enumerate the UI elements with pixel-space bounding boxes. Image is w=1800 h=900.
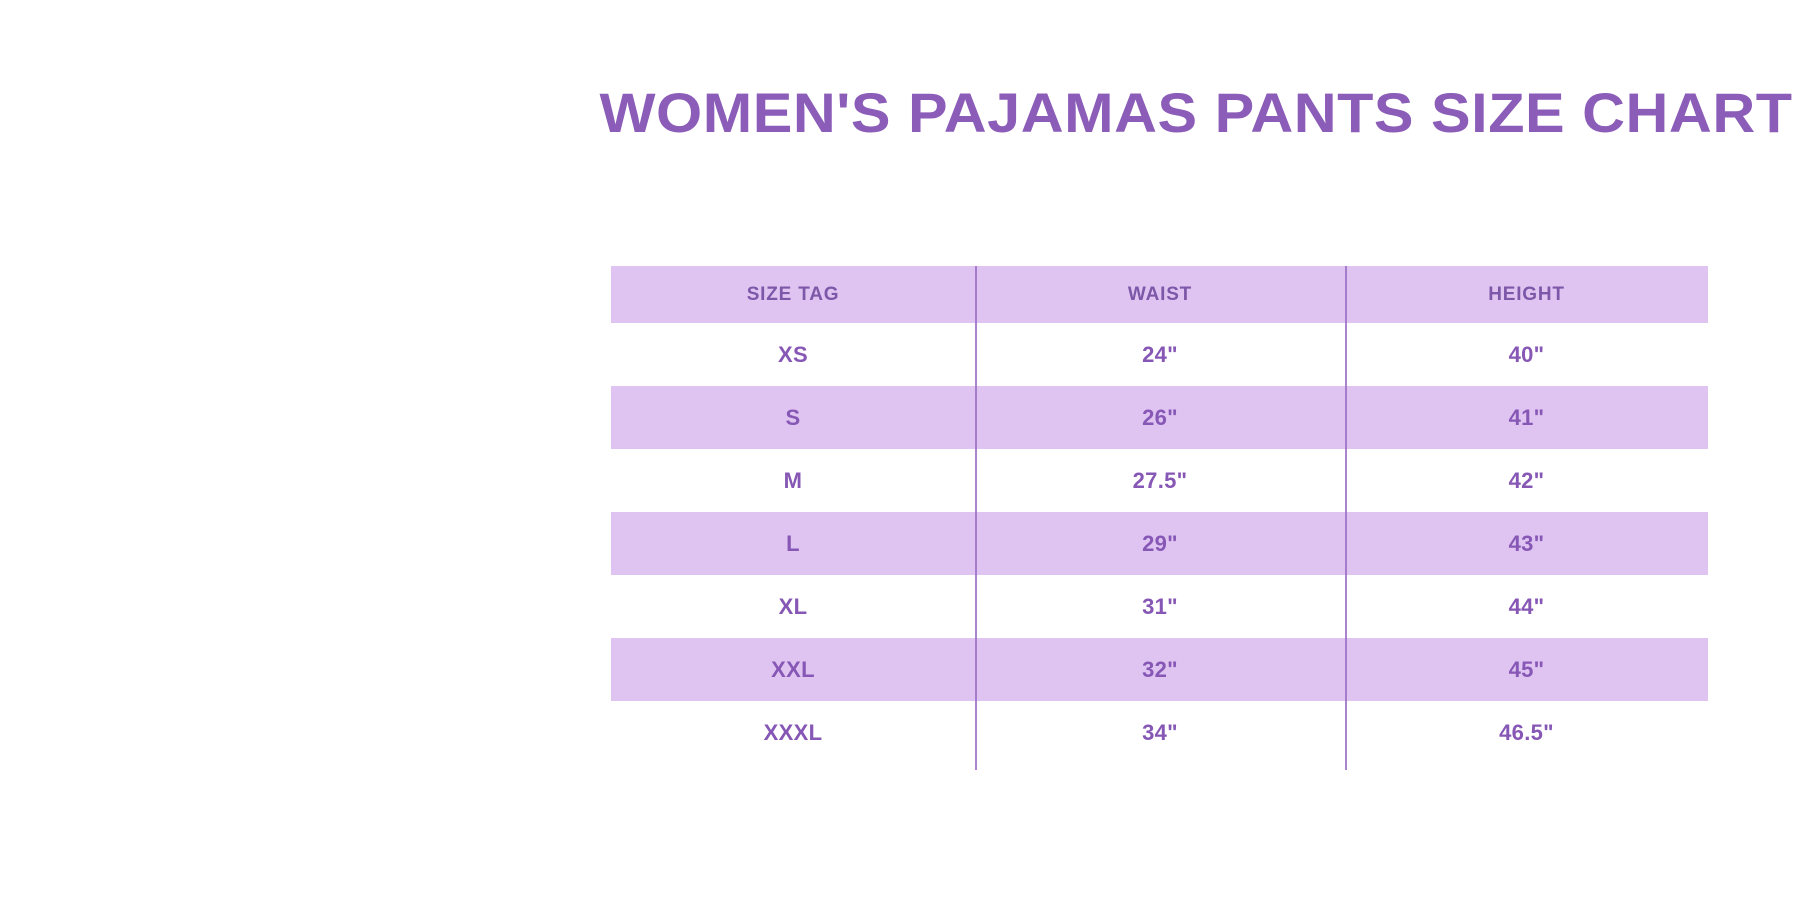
- cell-size-tag: S: [611, 386, 975, 449]
- column-header-waist: WAIST: [975, 266, 1345, 323]
- table-row: XXXL 34" 46.5": [611, 701, 1708, 764]
- table-header: SIZE TAG WAIST HEIGHT: [611, 266, 1708, 323]
- size-chart-page: WOMEN'S PAJAMAS PANTS SIZE CHART SIZE TA…: [0, 0, 1800, 900]
- size-chart-table: SIZE TAG WAIST HEIGHT XS 24" 40" S 26" 4…: [611, 266, 1708, 764]
- cell-size-tag: L: [611, 512, 975, 575]
- cell-height: 45": [1345, 638, 1708, 701]
- cell-height: 44": [1345, 575, 1708, 638]
- cell-height: 46.5": [1345, 701, 1708, 764]
- table-body: XS 24" 40" S 26" 41" M 27.5" 42" L 29": [611, 323, 1708, 764]
- cell-size-tag: XXL: [611, 638, 975, 701]
- cell-size-tag: XL: [611, 575, 975, 638]
- page-title: WOMEN'S PAJAMAS PANTS SIZE CHART: [564, 84, 1800, 143]
- cell-height: 42": [1345, 449, 1708, 512]
- column-header-size-tag: SIZE TAG: [611, 266, 975, 323]
- cell-height: 40": [1345, 323, 1708, 386]
- cell-waist: 27.5": [975, 449, 1345, 512]
- size-chart-table-container: SIZE TAG WAIST HEIGHT XS 24" 40" S 26" 4…: [611, 266, 1708, 764]
- cell-waist: 34": [975, 701, 1345, 764]
- table-row: XL 31" 44": [611, 575, 1708, 638]
- table-row: XXL 32" 45": [611, 638, 1708, 701]
- cell-size-tag: XS: [611, 323, 975, 386]
- cell-height: 43": [1345, 512, 1708, 575]
- cell-waist: 31": [975, 575, 1345, 638]
- table-header-row: SIZE TAG WAIST HEIGHT: [611, 266, 1708, 323]
- cell-waist: 29": [975, 512, 1345, 575]
- cell-waist: 24": [975, 323, 1345, 386]
- cell-size-tag: M: [611, 449, 975, 512]
- cell-waist: 32": [975, 638, 1345, 701]
- cell-height: 41": [1345, 386, 1708, 449]
- column-header-height: HEIGHT: [1345, 266, 1708, 323]
- table-row: S 26" 41": [611, 386, 1708, 449]
- table-row: L 29" 43": [611, 512, 1708, 575]
- cell-size-tag: XXXL: [611, 701, 975, 764]
- cell-waist: 26": [975, 386, 1345, 449]
- table-row: XS 24" 40": [611, 323, 1708, 386]
- column-divider-line: [975, 266, 977, 770]
- column-divider-line: [1345, 266, 1347, 770]
- table-row: M 27.5" 42": [611, 449, 1708, 512]
